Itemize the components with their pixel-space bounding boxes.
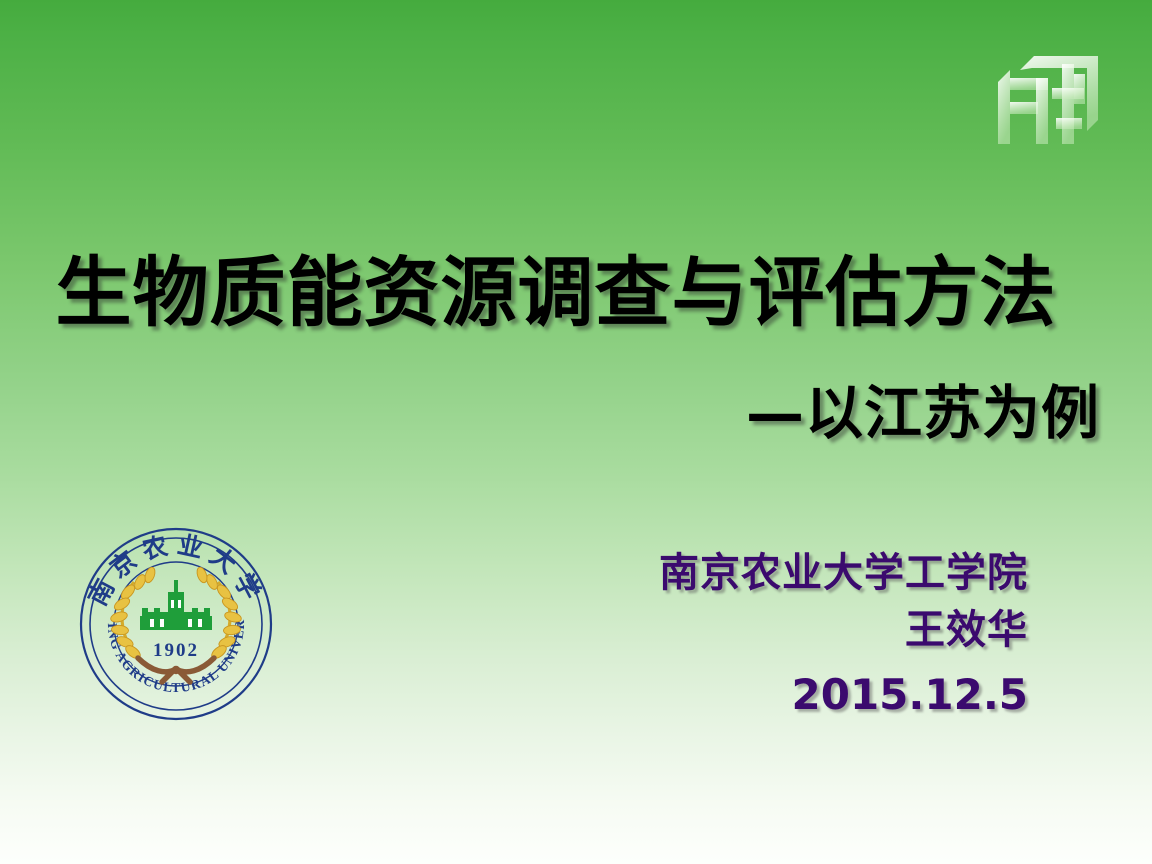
author-block: 南京农业大学工学院 王效华 2015.12.5: [659, 548, 1028, 728]
affiliation-text: 南京农业大学工学院: [659, 548, 1028, 599]
university-seal-logo: 南京农业大学 NANJING AGRICULTURAL UNIVERSITY: [76, 524, 276, 724]
title-slide: 生物质能资源调查与评估方法 —以江苏为例 南京农业大学工学院 王效华 2015.…: [0, 0, 1152, 864]
title-container: 生物质能资源调查与评估方法: [0, 252, 1112, 334]
presentation-date: 2015.12.5: [659, 668, 1028, 722]
presenter-name: 王效华: [659, 605, 1028, 656]
decorative-corner-logo-watermark: [986, 34, 1106, 149]
page-subtitle: —以江苏为例: [746, 382, 1100, 446]
svg-text:1902: 1902: [153, 640, 199, 661]
page-title: 生物质能资源调查与评估方法: [0, 252, 1112, 334]
subtitle-container: —以江苏为例: [746, 382, 1100, 446]
